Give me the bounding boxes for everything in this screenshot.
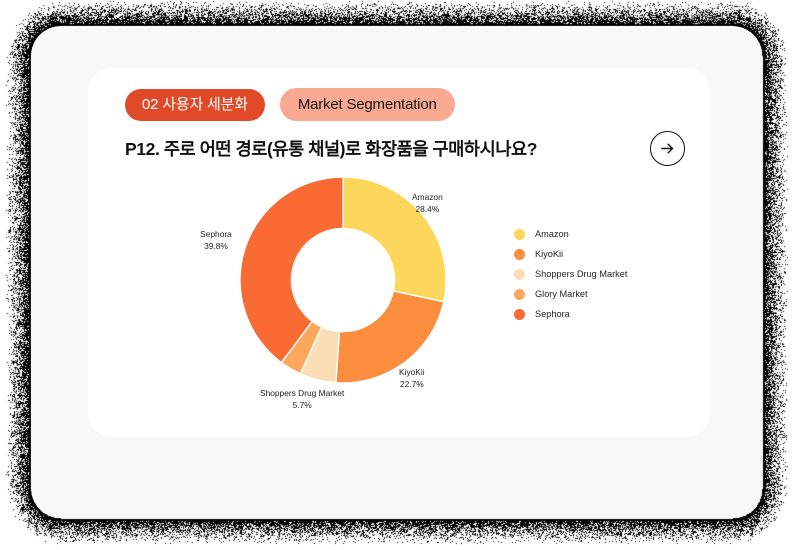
- donut-svg: [180, 170, 510, 410]
- slice-label-sephora-value: 39.8%: [182, 241, 250, 253]
- legend-swatch-icon: [514, 249, 525, 260]
- slice-label-shoppers-name: Shoppers Drug Market: [260, 388, 344, 400]
- arrow-right-icon: [659, 140, 676, 157]
- legend-label: Shoppers Drug Market: [535, 269, 627, 279]
- legend-label: KiyoKii: [535, 249, 563, 259]
- donut-chart: Amazon 28.4% Sephora 39.8% KiyoKii 22.7%…: [180, 170, 510, 410]
- legend-label: Glory Market: [535, 289, 588, 299]
- slice-label-amazon: Amazon 28.4%: [412, 192, 443, 215]
- slice-label-shoppers-drug-market: Shoppers Drug Market 5.7%: [260, 388, 344, 411]
- headline-row: P12. 주로 어떤 경로(유통 채널)로 화장품을 구매하시나요?: [125, 130, 685, 166]
- chart-legend: AmazonKiyoKiiShoppers Drug MarketGlory M…: [514, 224, 627, 324]
- page-title: P12. 주로 어떤 경로(유통 채널)로 화장품을 구매하시나요?: [125, 136, 537, 161]
- legend-item-glory-market[interactable]: Glory Market: [514, 284, 627, 304]
- legend-item-sephora[interactable]: Sephora: [514, 304, 627, 324]
- legend-item-amazon[interactable]: Amazon: [514, 224, 627, 244]
- legend-swatch-icon: [514, 229, 525, 240]
- donut-slice-kiyokii[interactable]: [336, 291, 444, 383]
- legend-swatch-icon: [514, 289, 525, 300]
- section-title-badge[interactable]: Market Segmentation: [280, 88, 455, 121]
- legend-swatch-icon: [514, 309, 525, 320]
- next-button[interactable]: [650, 131, 685, 166]
- slice-label-shoppers-value: 5.7%: [260, 400, 344, 412]
- slice-label-amazon-name: Amazon: [412, 192, 443, 204]
- section-number-badge[interactable]: 02 사용자 세분화: [125, 89, 265, 121]
- badge-row: 02 사용자 세분화 Market Segmentation: [125, 88, 455, 121]
- slice-label-amazon-value: 28.4%: [412, 204, 443, 216]
- slice-label-kiyokii: KiyoKii 22.7%: [399, 367, 425, 390]
- legend-item-kiyokii[interactable]: KiyoKii: [514, 244, 627, 264]
- slice-label-sephora: Sephora 39.8%: [182, 229, 250, 252]
- legend-swatch-icon: [514, 269, 525, 280]
- legend-label: Amazon: [535, 229, 569, 239]
- legend-label: Sephora: [535, 309, 570, 319]
- slice-label-kiyokii-name: KiyoKii: [399, 367, 425, 379]
- slice-label-kiyokii-value: 22.7%: [399, 379, 425, 391]
- slice-label-sephora-name: Sephora: [182, 229, 250, 241]
- legend-item-shoppers-drug-market[interactable]: Shoppers Drug Market: [514, 264, 627, 284]
